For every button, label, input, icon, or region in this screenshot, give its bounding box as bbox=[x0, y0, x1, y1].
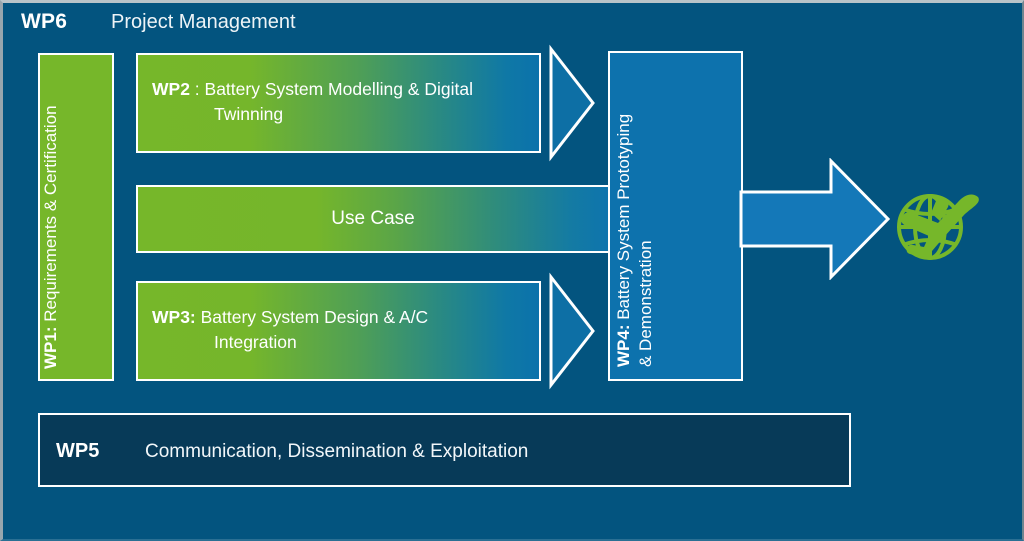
use-case-label: Use Case bbox=[138, 187, 608, 251]
wp2-label: WP2 : Battery System Modelling & Digital… bbox=[152, 77, 529, 128]
wp2-title: Battery System Modelling & Digital bbox=[205, 79, 473, 99]
wp4-title: Battery System Prototyping bbox=[614, 114, 633, 325]
wp4-code: WP4: bbox=[614, 325, 633, 368]
wp1-text-rotated: WP1: Requirements & Certification bbox=[40, 41, 112, 369]
workpackage-diagram: WP6 Project Management WP1: Requirements… bbox=[0, 0, 1024, 541]
wp2-separator: : bbox=[190, 79, 205, 99]
triangle-right-icon-top bbox=[548, 44, 596, 162]
wp3-label: WP3: Battery System Design & A/C Integra… bbox=[152, 305, 529, 356]
wp3-code: WP3: bbox=[152, 307, 196, 327]
wp2-title-line2: Twinning bbox=[152, 102, 529, 127]
wp2-code: WP2 bbox=[152, 79, 190, 99]
wp5-box[interactable]: WP5 Communication, Dissemination & Explo… bbox=[38, 413, 851, 487]
wp6-title: Project Management bbox=[111, 11, 296, 34]
wp4-text-rotated: WP4: Battery System Prototyping & Demons… bbox=[613, 37, 741, 367]
use-case-box[interactable]: Use Case bbox=[136, 185, 610, 253]
wp5-title: Communication, Dissemination & Exploitat… bbox=[145, 441, 528, 463]
wp5-code: WP5 bbox=[56, 440, 99, 463]
wp1-code: WP1: bbox=[41, 327, 60, 370]
wp6-code: WP6 bbox=[21, 10, 67, 34]
wp1-title: Requirements & Certification bbox=[41, 105, 60, 326]
wp1-box[interactable]: WP1: Requirements & Certification bbox=[38, 53, 114, 381]
wp4-box[interactable]: WP4: Battery System Prototyping & Demons… bbox=[608, 51, 743, 381]
wp2-box[interactable]: WP2 : Battery System Modelling & Digital… bbox=[136, 53, 541, 153]
wp3-box[interactable]: WP3: Battery System Design & A/C Integra… bbox=[136, 281, 541, 381]
globe-airplane-icon bbox=[882, 177, 986, 269]
wp4-title-line2: & Demonstration bbox=[636, 240, 655, 367]
wp3-title: Battery System Design & A/C bbox=[196, 307, 428, 327]
wp3-title-line2: Integration bbox=[152, 330, 529, 355]
arrow-right-icon bbox=[739, 158, 891, 280]
triangle-right-icon-bottom bbox=[548, 272, 596, 390]
